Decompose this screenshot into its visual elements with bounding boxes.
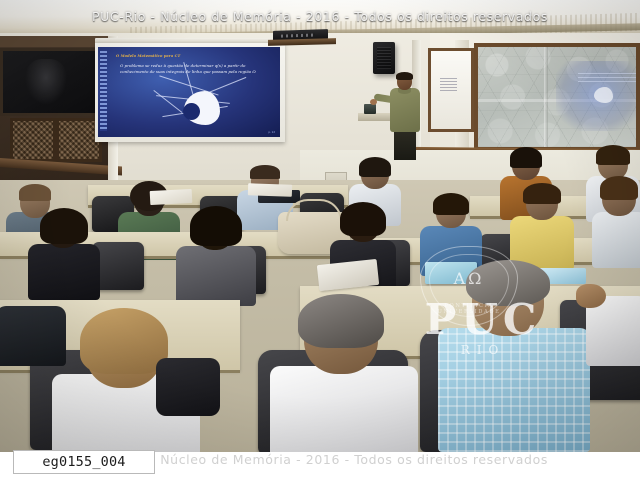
person-hair bbox=[298, 294, 384, 348]
person-backpack bbox=[156, 358, 220, 416]
audience-member bbox=[592, 180, 640, 264]
person-hair bbox=[340, 202, 386, 236]
presenter-torso bbox=[390, 88, 420, 132]
person-hair bbox=[596, 145, 630, 165]
slide-title: O Modelo Matemático para CT bbox=[116, 54, 266, 59]
photo-viewer: O Modelo Matemático para CT O problema s… bbox=[0, 0, 640, 480]
person-hair bbox=[40, 208, 88, 244]
audience-member-foreground bbox=[438, 266, 590, 452]
audience-member-foreground bbox=[52, 316, 200, 452]
slide-sidebar bbox=[100, 51, 107, 131]
presenter-hair bbox=[396, 72, 413, 80]
audience-member bbox=[0, 276, 66, 364]
audience-member-foreground bbox=[586, 274, 640, 364]
slide-region-omega bbox=[184, 91, 220, 125]
person-hair bbox=[19, 184, 51, 201]
whiteboard-notes bbox=[440, 78, 457, 92]
glass-mullion bbox=[544, 47, 548, 147]
person-hair bbox=[190, 206, 242, 246]
person-hair bbox=[466, 260, 550, 306]
projection-screen: O Modelo Matemático para CT O problema s… bbox=[95, 43, 285, 142]
table-items bbox=[364, 104, 376, 114]
wall-speaker-icon bbox=[373, 42, 395, 74]
presentation-slide: O Modelo Matemático para CT O problema s… bbox=[98, 47, 280, 137]
audience-member-foreground bbox=[270, 300, 418, 452]
photograph: O Modelo Matemático para CT O problema s… bbox=[0, 0, 640, 452]
paper-sheet bbox=[248, 183, 292, 197]
paper-sheet bbox=[150, 189, 193, 205]
person-torso bbox=[270, 366, 418, 452]
filename-chip[interactable]: eg0155_004 bbox=[13, 450, 155, 474]
frosted-glass-panel bbox=[474, 43, 640, 151]
person-hair bbox=[523, 183, 561, 204]
cabinet-door-left bbox=[10, 118, 56, 162]
reflected-slide-blob bbox=[594, 87, 613, 103]
audience-member bbox=[510, 186, 574, 266]
audience-member bbox=[420, 196, 482, 270]
audience-member bbox=[176, 210, 256, 302]
presenter-legs bbox=[394, 130, 416, 160]
person-torso bbox=[592, 212, 640, 268]
television-icon bbox=[0, 48, 106, 116]
person-torso bbox=[176, 246, 256, 306]
person-torso bbox=[0, 306, 66, 366]
presenter bbox=[386, 73, 426, 159]
person-hair bbox=[80, 308, 168, 374]
presenter-hand bbox=[370, 99, 377, 105]
reflected-slide-text bbox=[578, 73, 640, 85]
person-hair bbox=[510, 147, 542, 168]
person-hair bbox=[250, 165, 280, 179]
person-hair bbox=[359, 157, 391, 177]
person-torso bbox=[438, 328, 590, 452]
slide-corner-tag: p. 12 bbox=[268, 131, 275, 134]
person-hair bbox=[433, 193, 469, 215]
person-hair bbox=[600, 176, 638, 200]
slide-body: O problema se reduz à questão de determi… bbox=[120, 63, 266, 75]
person-hand bbox=[576, 284, 606, 308]
